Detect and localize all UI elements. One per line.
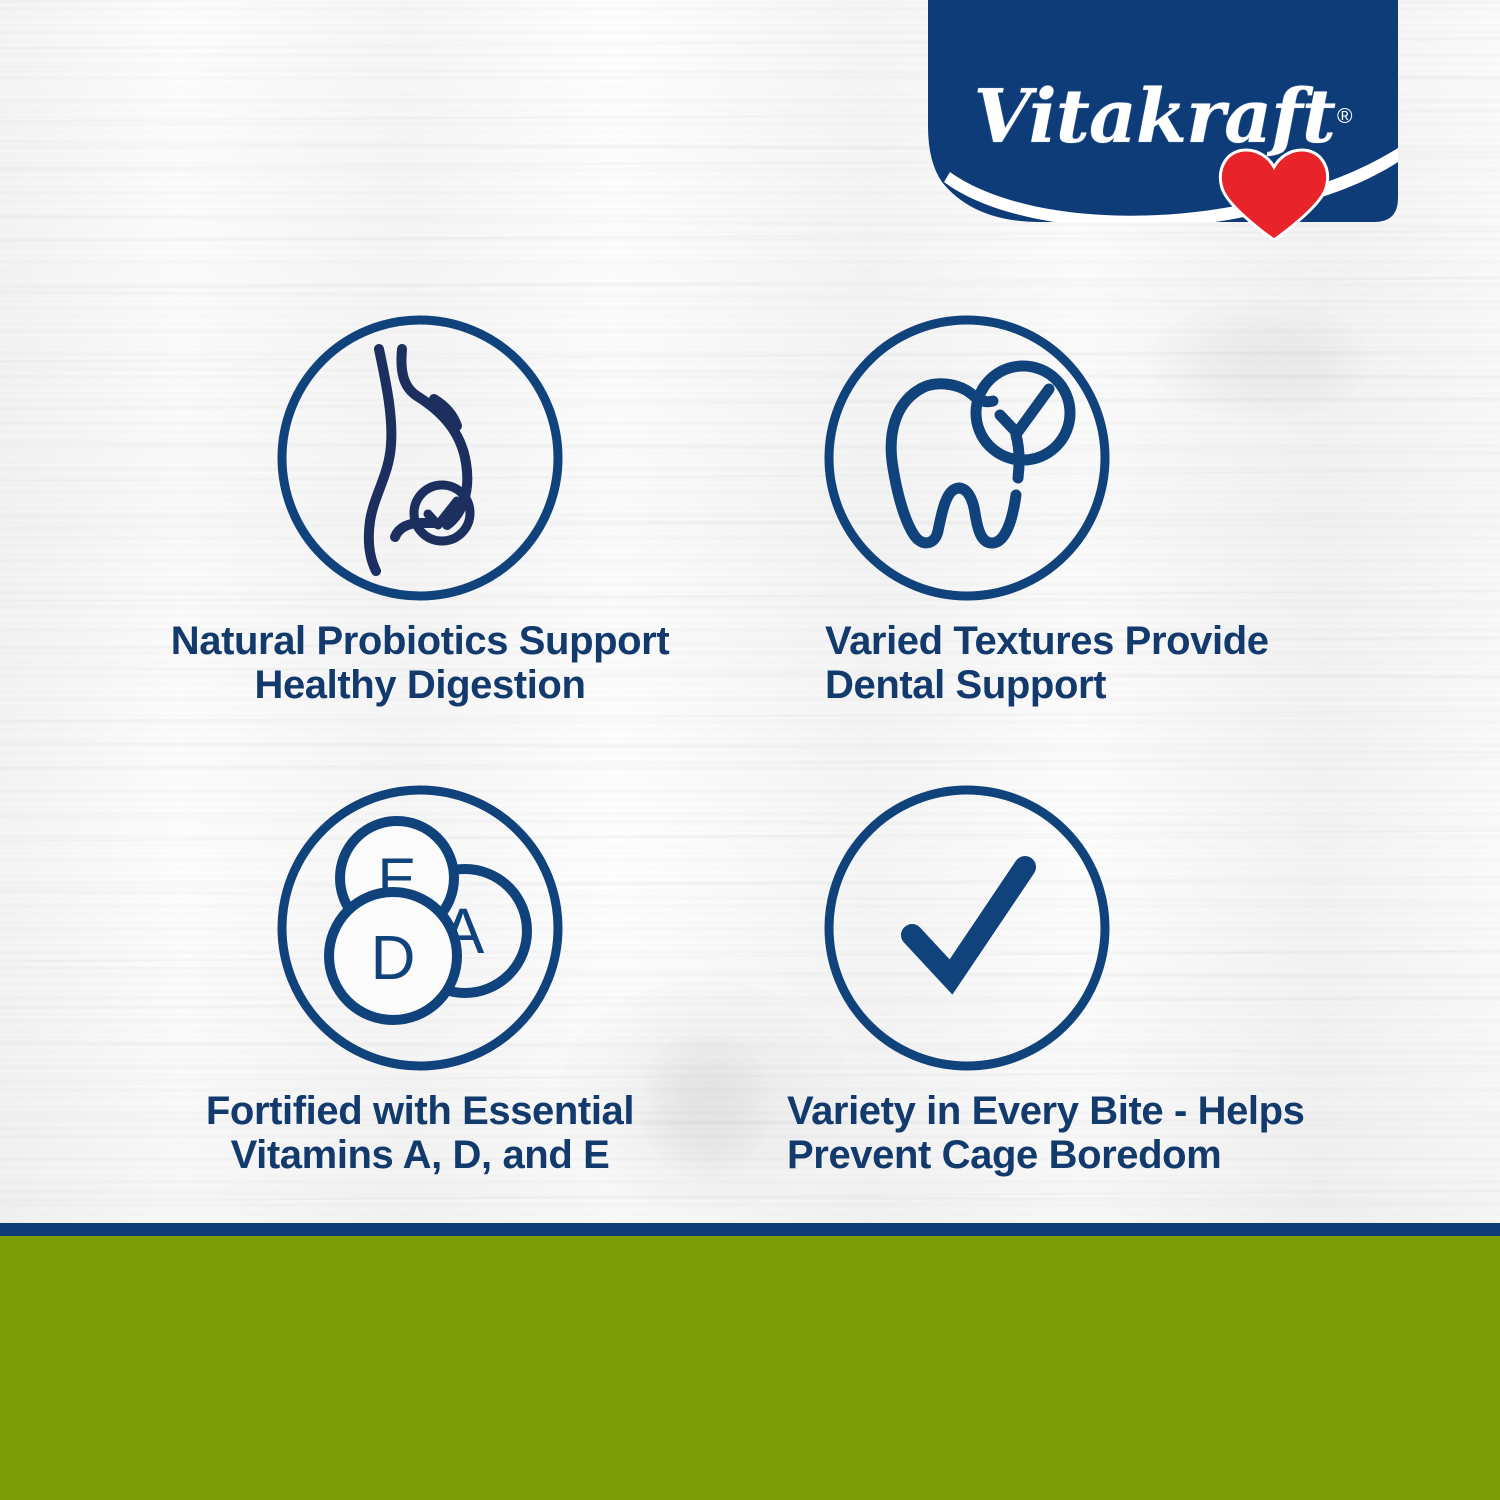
feature-caption: Variety in Every Bite - Helps Prevent Ca… <box>655 1089 1405 1177</box>
feature-item-variety: Variety in Every Bite - Helps Prevent Ca… <box>655 783 1405 1177</box>
checkmark-icon <box>822 783 1112 1073</box>
footer-green-panel <box>0 1236 1500 1500</box>
feature-caption: Varied Textures Provide Dental Support <box>655 619 1405 707</box>
caption-line-2: Prevent Cage Boredom <box>787 1133 1405 1177</box>
vitamins-eda-icon: A E D <box>275 783 565 1073</box>
caption-line-2: Dental Support <box>825 663 1405 707</box>
feature-grid: Natural Probiotics Support Healthy Diges… <box>0 0 1500 1225</box>
product-feature-infographic: Vitakraft® <box>0 0 1500 1500</box>
caption-line-1: Variety in Every Bite - Helps <box>787 1089 1405 1133</box>
caption-line-1: Varied Textures Provide <box>825 619 1405 663</box>
stomach-check-icon <box>275 313 565 603</box>
vitamin-label-d: D <box>371 924 416 993</box>
feature-item-dental: Varied Textures Provide Dental Support <box>655 313 1405 707</box>
footer-accent-bar <box>0 1223 1500 1236</box>
tooth-check-icon <box>822 313 1112 603</box>
